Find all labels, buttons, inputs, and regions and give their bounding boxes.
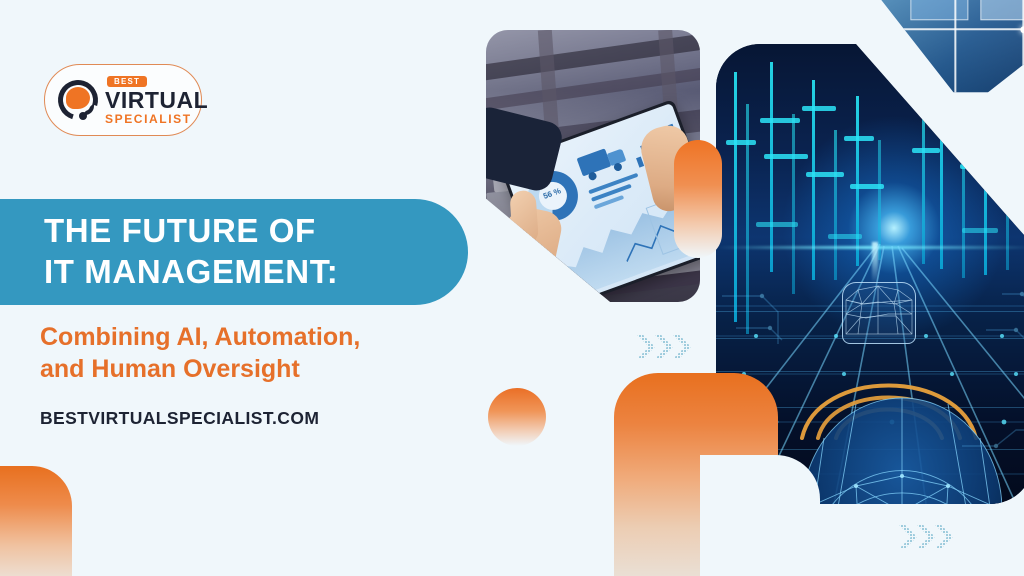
orange-corner-block [0,466,72,576]
orange-circle-shape [488,388,546,446]
chevron-group-lower [898,522,956,552]
logo-wordmark: BEST VIRTUAL SPECIALIST [105,76,208,125]
logo-virtual-text: VIRTUAL [105,89,208,112]
subtitle: Combining AI, Automation, and Human Over… [40,321,510,385]
poster-canvas: 10101010 [0,0,1024,576]
chevron-group-upper [636,332,694,362]
brand-logo[interactable]: BEST VIRTUAL SPECIALIST [44,64,202,136]
collage-grid [880,0,1024,92]
orange-pill-shape [674,140,722,258]
chevron-icon [636,332,694,362]
left-hand [487,203,564,302]
chevron-icon [898,522,956,552]
binary-text: 10101010 [996,151,1024,187]
warehouse-photo: 56 % [486,30,700,302]
subtitle-line-2: and Human Oversight [40,353,510,385]
delivery-truck-icon [577,143,629,183]
website-url[interactable]: BESTVIRTUALSPECIALIST.COM [40,408,319,429]
headline-banner: THE FUTURE OF IT MANAGEMENT: [0,199,468,305]
subtitle-line-1: Combining AI, Automation, [40,321,510,353]
panel-notch [700,455,820,576]
headline-line-1: THE FUTURE OF [44,211,468,252]
warehouse-tablet-panel: 56 % [486,30,700,302]
headset-chat-icon [57,79,99,121]
headline-line-2: IT MANAGEMENT: [44,252,468,293]
logo-specialist-text: SPECIALIST [105,113,192,125]
logo-best-badge: BEST [107,76,147,87]
